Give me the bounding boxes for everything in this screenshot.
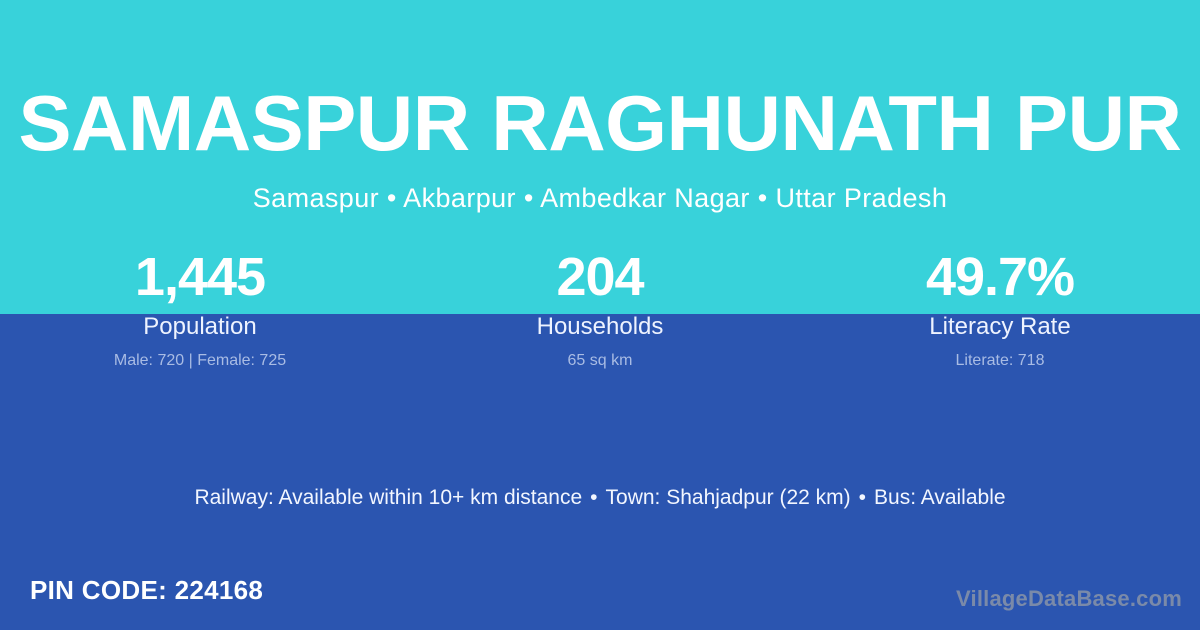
site-brand: VillageDataBase.com	[956, 586, 1182, 612]
stat-label-literacy-rate: Literacy Rate	[800, 313, 1200, 342]
amenity-railway: Railway: Available within 10+ km distanc…	[194, 486, 582, 509]
stat-label-households: Households	[400, 313, 800, 342]
stat-sub-population: Male: 720 | Female: 725	[0, 351, 400, 370]
stat-population: 1,445 Population Male: 720 | Female: 725	[0, 248, 400, 370]
stat-sub-households: 65 sq km	[400, 351, 800, 370]
stat-households: 204 Households 65 sq km	[400, 248, 800, 370]
stat-value-literacy-rate: 49.7%	[800, 248, 1200, 307]
amenity-separator-1: •	[582, 486, 605, 509]
stats-row: 1,445 Population Male: 720 | Female: 725…	[0, 248, 1200, 370]
pin-code: PIN CODE: 224168	[30, 575, 263, 606]
stat-label-population: Population	[0, 313, 400, 342]
breadcrumb: Samaspur • Akbarpur • Ambedkar Nagar • U…	[0, 182, 1200, 214]
stat-value-households: 204	[400, 248, 800, 307]
amenity-town: Town: Shahjadpur (22 km)	[606, 486, 851, 509]
amenity-separator-2: •	[851, 486, 874, 509]
village-info-card: SAMASPUR RAGHUNATH PUR Samaspur • Akbarp…	[0, 0, 1200, 630]
stat-literacy-rate: 49.7% Literacy Rate Literate: 718	[800, 248, 1200, 370]
amenity-bus: Bus: Available	[874, 486, 1006, 509]
stat-sub-literacy-rate: Literate: 718	[800, 351, 1200, 370]
stat-value-population: 1,445	[0, 248, 400, 307]
page-title: SAMASPUR RAGHUNATH PUR	[0, 84, 1200, 162]
amenities-line: Railway: Available within 10+ km distanc…	[0, 484, 1200, 511]
